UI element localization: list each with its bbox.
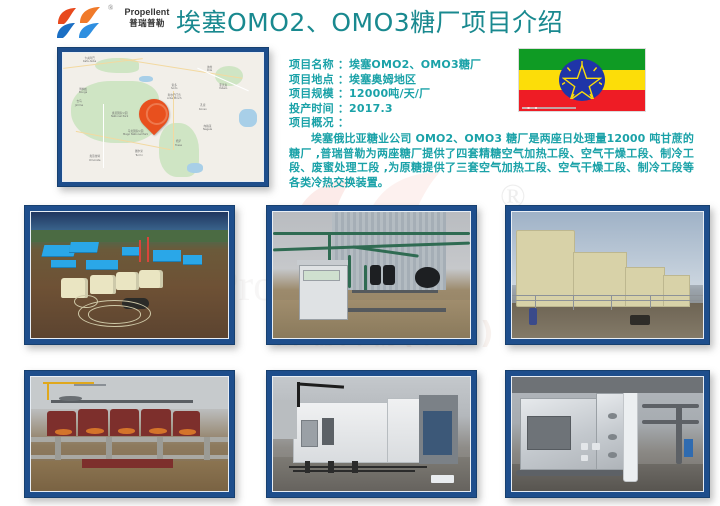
photo-inner-3	[511, 211, 704, 339]
location-map[interactable]: 卡夫阿巴Kafa Abba 博纳加Bonga 吉马Jimma 奥莫国家公园Nat…	[63, 53, 263, 181]
ethiopia-flag-icon	[518, 48, 646, 112]
photo-air-handling-unit-stainless[interactable]	[505, 370, 710, 498]
photo-construction-vessels[interactable]	[24, 370, 235, 498]
photo-inner-1	[30, 211, 229, 339]
photo-inner-4	[30, 376, 229, 492]
storage-tanks-scene	[512, 212, 703, 338]
brand-block: Propellent 普瑞普勒	[118, 7, 176, 29]
brand-name-cn: 普瑞普勒	[118, 18, 176, 29]
map-frame: 卡夫阿巴Kafa Abba 博纳加Bonga 吉马Jimma 奥莫国家公园Nat…	[57, 47, 269, 187]
propellent-logo-icon: ®	[52, 4, 114, 42]
flag-star-icon	[562, 61, 602, 99]
photo-pump-skid-control-cabinet[interactable]	[266, 205, 477, 345]
info-overview-paragraph: 埃塞俄比亚糖业公司 OMO2、OMO3 糖厂是两座日处理量12000 吨甘蔗的糖…	[289, 132, 694, 190]
photo-inner-2	[272, 211, 471, 339]
photo-storage-tanks[interactable]	[505, 205, 710, 345]
logo-registered-icon: ®	[108, 4, 113, 12]
air-handling-unit-stainless-scene	[512, 377, 703, 491]
photo-aerial-sugar-plant[interactable]	[24, 205, 235, 345]
construction-site-scene	[31, 377, 228, 491]
air-handling-unit-white-scene	[273, 377, 470, 491]
pump-room-scene	[273, 212, 470, 338]
aerial-plant-scene	[31, 212, 228, 338]
page-header: ® Propellent 普瑞普勒 埃塞OMO2、OMO3糖厂项目介绍	[0, 0, 720, 46]
info-line-overview-label: 项目概况 ：	[289, 116, 619, 131]
photo-inner-5	[272, 376, 471, 492]
page-title: 埃塞OMO2、OMO3糖厂项目介绍	[176, 3, 563, 39]
slide-page: ® Pro 普瑞普勒(北京) ® Propellent 普瑞普勒 埃塞OMO2、…	[0, 0, 720, 506]
photo-air-handling-unit-white[interactable]	[266, 370, 477, 498]
map-inner: 卡夫阿巴Kafa Abba 博纳加Bonga 吉马Jimma 奥莫国家公园Nat…	[62, 52, 264, 182]
photo-inner-6	[511, 376, 704, 492]
flag-bottom-ticks	[522, 107, 576, 109]
brand-name-en: Propellent	[118, 7, 176, 18]
